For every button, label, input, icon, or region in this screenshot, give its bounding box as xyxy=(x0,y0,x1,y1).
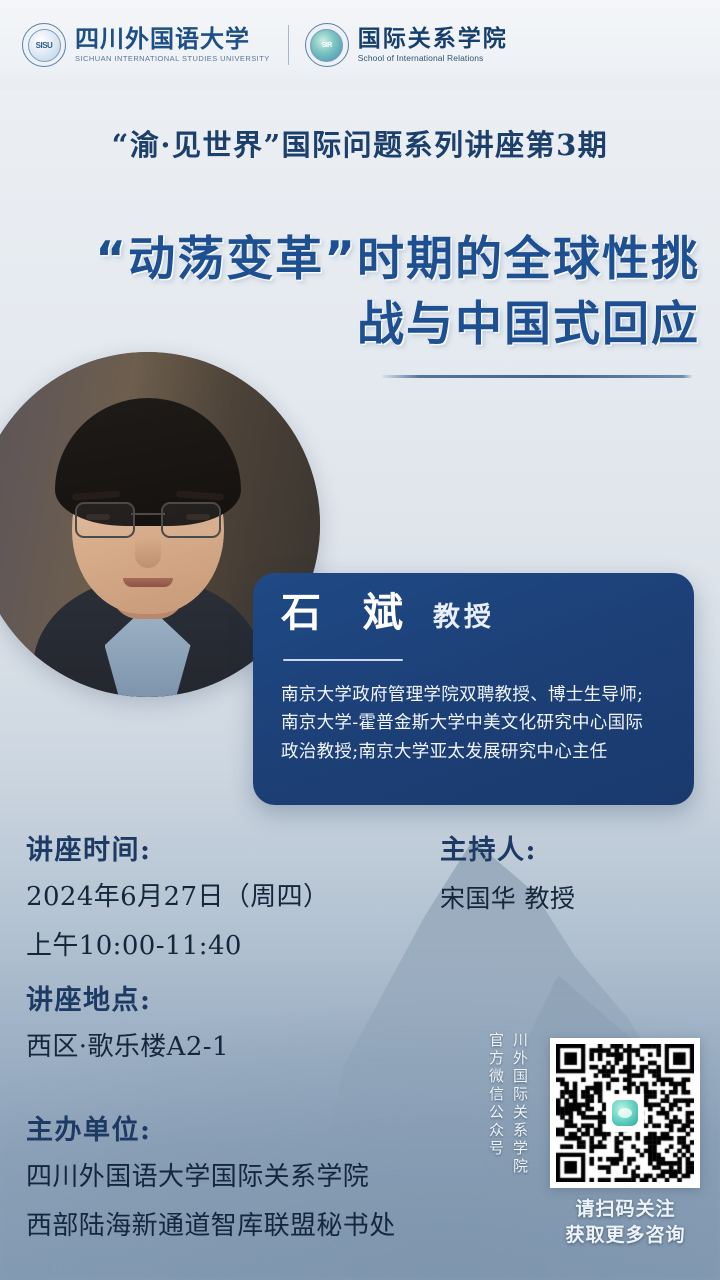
organizer-label: 主办单位: xyxy=(26,1108,396,1147)
speaker-bio-line-1: 南京大学政府管理学院双聘教授、博士生导师; xyxy=(281,681,671,709)
organizer-value-2: 西部陆海新通道智库联盟秘书处 xyxy=(26,1208,396,1245)
speaker-bio: 南京大学政府管理学院双聘教授、博士生导师; 南京大学-霍普金斯大学中美文化研究中… xyxy=(281,681,671,766)
host-value: 宋国华 教授 xyxy=(440,881,575,917)
wechat-logo-icon xyxy=(608,1096,642,1130)
title-divider-rule xyxy=(382,375,692,378)
speaker-info-card: 石 斌 教授 南京大学政府管理学院双聘教授、博士生导师; 南京大学-霍普金斯大学… xyxy=(253,573,694,805)
glasses-lens-right xyxy=(161,502,221,538)
lecture-poster: SISU 四川外国语大学 SICHUAN INTERNATIONAL STUDI… xyxy=(0,0,720,1280)
speaker-name: 石 斌 xyxy=(281,593,417,633)
glasses-lens-left xyxy=(75,502,135,538)
speaker-name-underline xyxy=(283,659,403,661)
lecture-date-value: 2024年6月27日（周四） xyxy=(26,879,329,916)
school-name-cn: 国际关系学院 xyxy=(358,27,508,50)
vertical-divider-icon xyxy=(288,25,289,65)
university-logo-text: 四川外国语大学 SICHUAN INTERNATIONAL STUDIES UN… xyxy=(75,27,270,63)
university-name-cn: 四川外国语大学 xyxy=(75,27,270,51)
globe-emblem-inner: SIR xyxy=(310,29,343,62)
globe-emblem-icon: SIR xyxy=(305,23,349,67)
header-logo-bar: SISU 四川外国语大学 SICHUAN INTERNATIONAL STUDI… xyxy=(0,0,720,90)
sisu-shield-inner: SISU xyxy=(28,29,61,62)
sisu-shield-icon: SISU xyxy=(22,23,66,67)
lecture-hours-value: 上午10:00-11:40 xyxy=(26,928,329,965)
lecture-place-label: 讲座地点: xyxy=(26,978,229,1017)
qr-caption-line-1: 请扫码关注 xyxy=(548,1196,703,1222)
qr-vertical-text-line-2: 官方微信公众号 xyxy=(486,1032,507,1202)
qr-caption: 请扫码关注 获取更多咨询 xyxy=(548,1196,703,1248)
qr-vertical-text: 川外国际关系学院 官方微信公众号 xyxy=(486,1032,531,1202)
portrait-nose xyxy=(135,538,161,568)
speaker-name-row: 石 斌 教授 xyxy=(281,593,495,634)
qr-vertical-text-line-1: 川外国际关系学院 xyxy=(510,1032,531,1202)
page-title: “动荡变革”时期的全球性挑 战与中国式回应 xyxy=(20,228,700,358)
title-line-2: 战与中国式回应 xyxy=(20,293,700,358)
speaker-bio-line-2: 南京大学-霍普金斯大学中美文化研究中心国际 xyxy=(281,709,671,737)
lecture-place-value: 西区·歌乐楼A2-1 xyxy=(26,1029,229,1066)
lecture-time-block: 讲座时间: 2024年6月27日（周四） 上午10:00-11:40 xyxy=(26,828,329,965)
school-logo: SIR 国际关系学院 School of International Relat… xyxy=(305,23,508,67)
speaker-academic-title: 教授 xyxy=(433,595,495,634)
wechat-logo-glyph xyxy=(612,1100,638,1126)
portrait-mouth xyxy=(123,578,173,587)
host-label: 主持人: xyxy=(440,828,575,867)
title-line-1: “动荡变革”时期的全球性挑 xyxy=(20,228,700,293)
organizer-value-1: 四川外国语大学国际关系学院 xyxy=(26,1159,396,1196)
university-name-en: SICHUAN INTERNATIONAL STUDIES UNIVERSITY xyxy=(75,55,270,63)
speaker-bio-line-3: 政治教授;南京大学亚太发展研究中心主任 xyxy=(281,738,671,766)
lecture-series-line: “渝·见世界”国际问题系列讲座第3期 xyxy=(0,122,720,164)
qr-caption-line-2: 获取更多咨询 xyxy=(548,1222,703,1248)
wechat-qr-code[interactable] xyxy=(550,1038,700,1188)
organizer-block: 主办单位: 四川外国语大学国际关系学院 西部陆海新通道智库联盟秘书处 xyxy=(26,1108,396,1245)
university-logo: SISU 四川外国语大学 SICHUAN INTERNATIONAL STUDI… xyxy=(22,23,270,67)
glasses-bridge xyxy=(131,513,165,515)
lecture-time-label: 讲座时间: xyxy=(26,828,329,867)
portrait-glasses-icon xyxy=(75,502,221,536)
school-name-en: School of International Relations xyxy=(358,54,508,63)
school-logo-text: 国际关系学院 School of International Relations xyxy=(358,27,508,63)
lecture-host-block: 主持人: 宋国华 教授 xyxy=(440,828,575,917)
lecture-place-block: 讲座地点: 西区·歌乐楼A2-1 xyxy=(26,978,229,1066)
